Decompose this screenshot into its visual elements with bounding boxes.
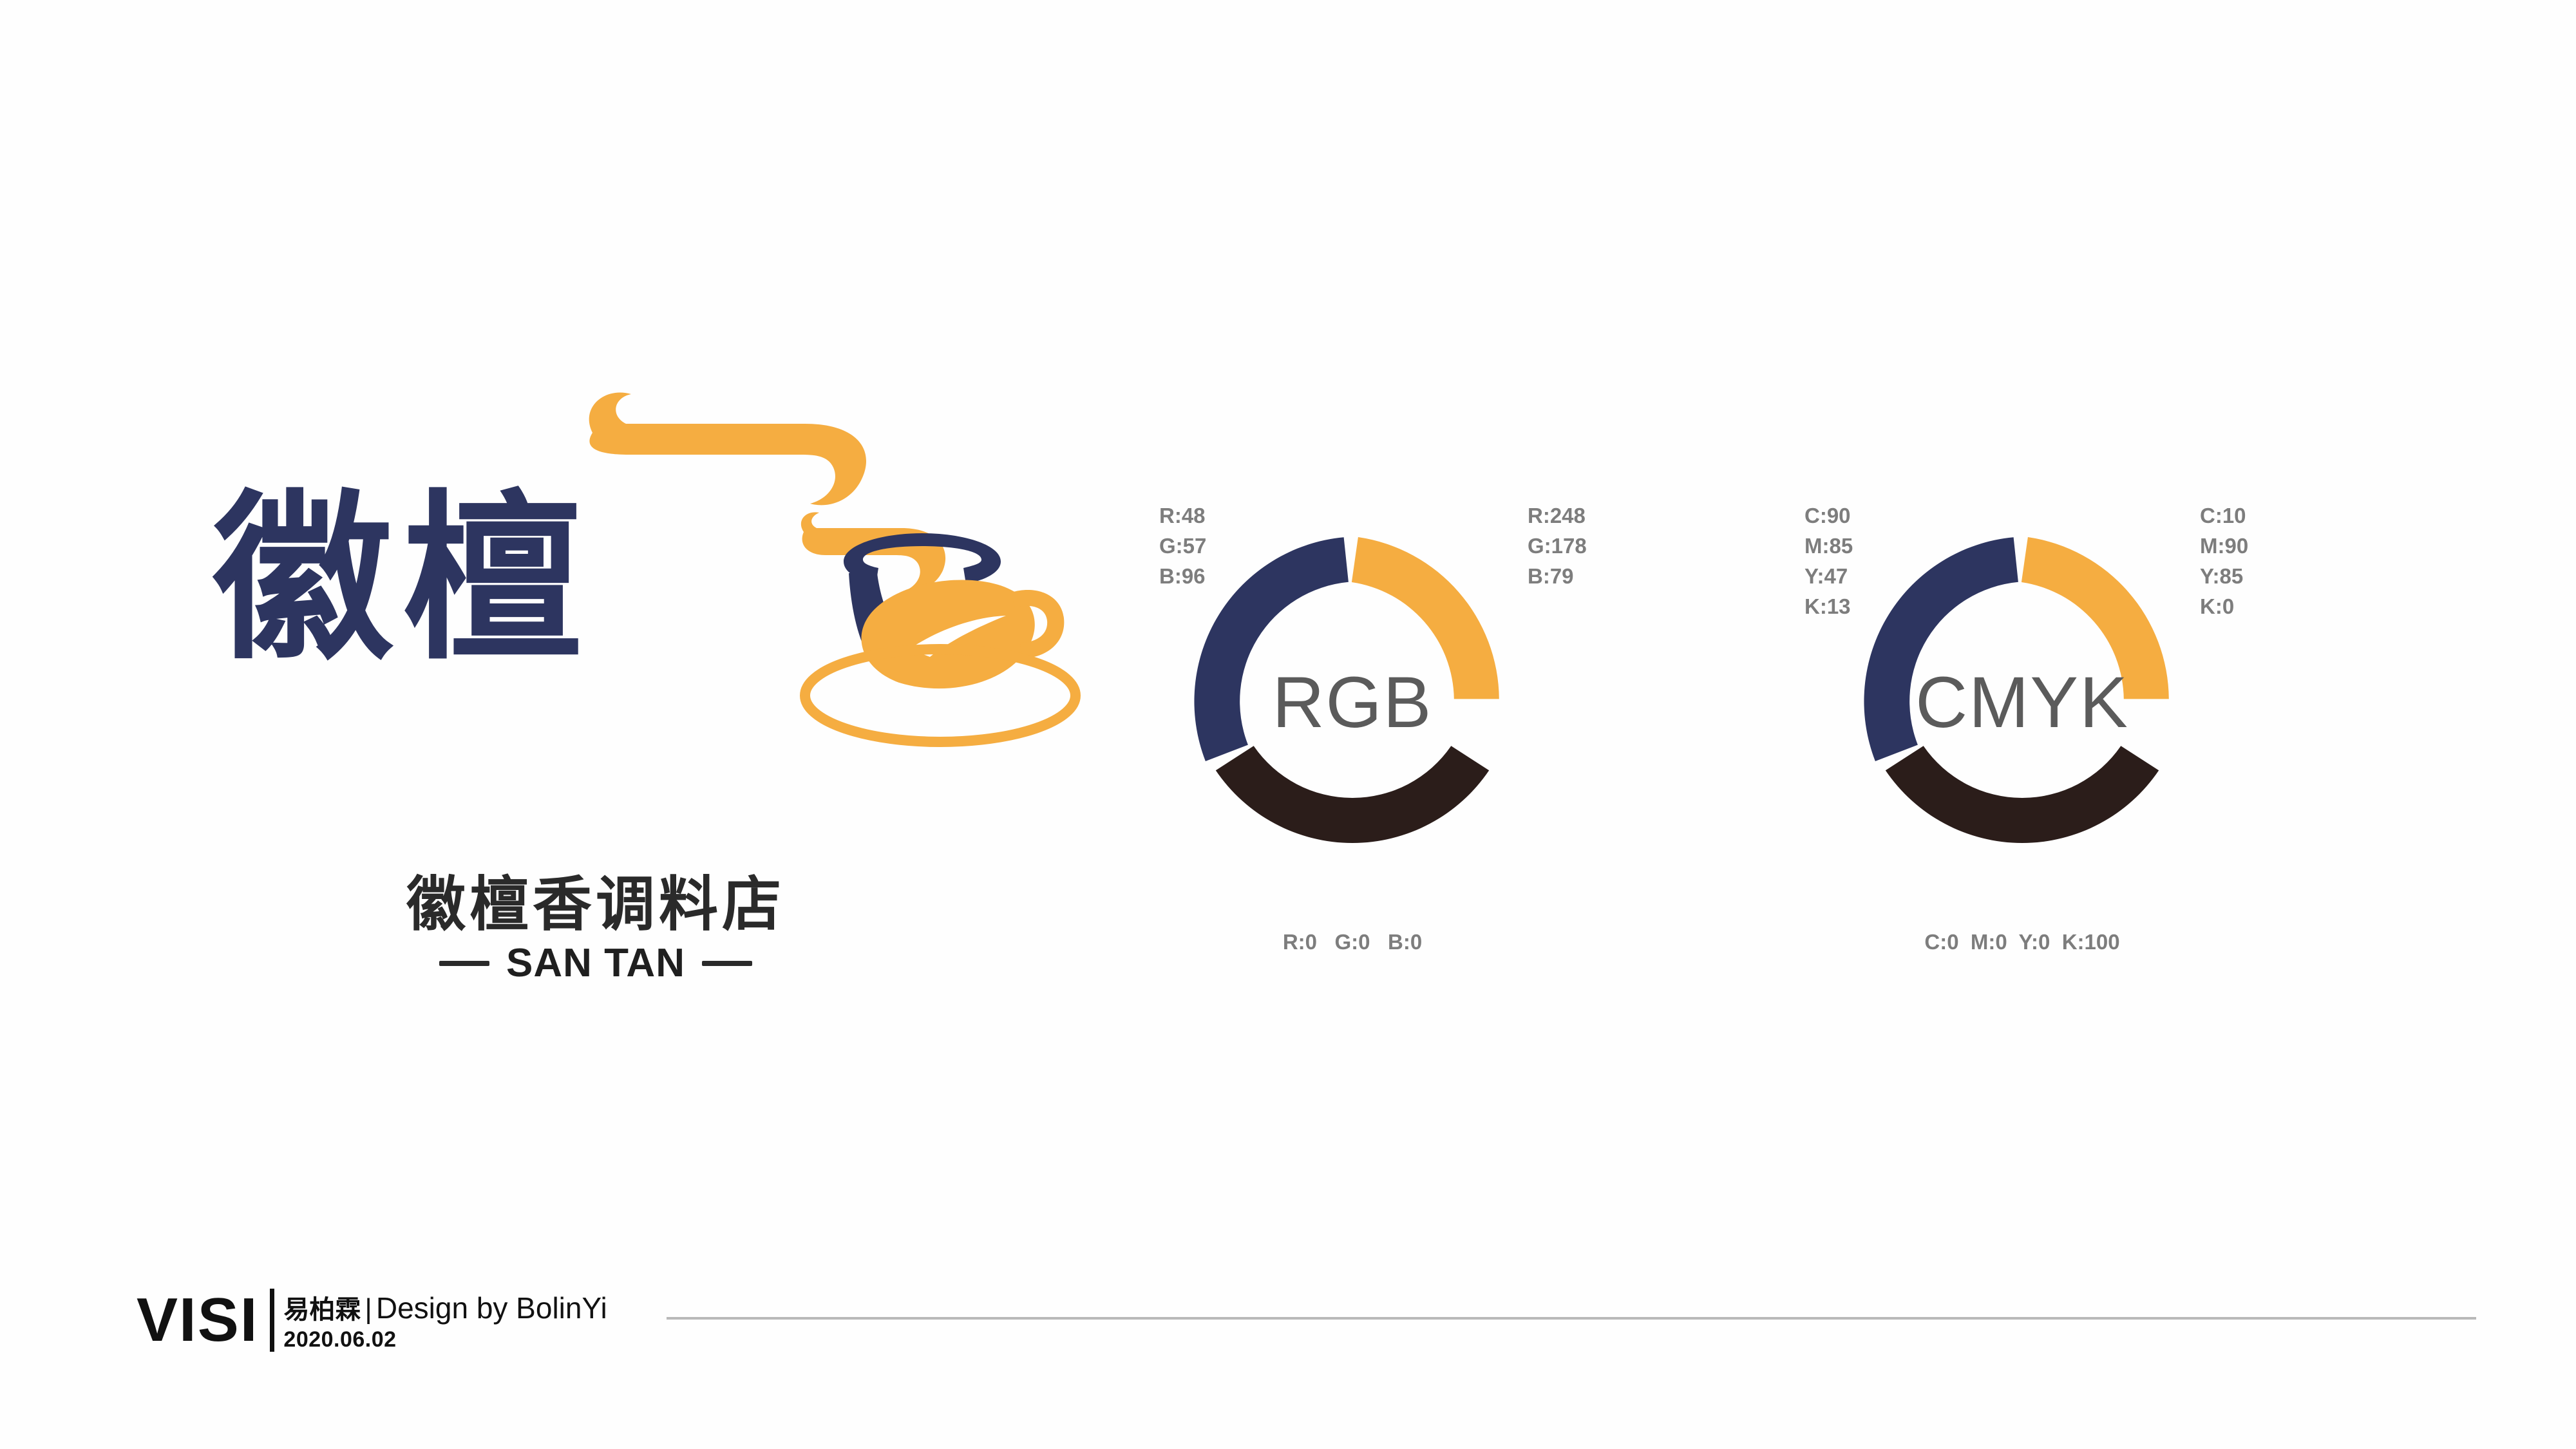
logo-latin-row: SAN TAN: [193, 940, 998, 986]
cmyk-segment-orange: [2022, 537, 2169, 699]
rgb-label-navy: R:48 G:57 B:96: [1159, 501, 1206, 592]
cmyk-segment-navy: [1864, 537, 2018, 761]
cmyk-label-navy: C:90 M:85 Y:47 K:13: [1804, 501, 1853, 621]
logo-wordmark-hanzi: 徽檀: [213, 489, 591, 670]
rgb-label-orange: R:248 G:178 B:79: [1528, 501, 1587, 592]
footer-credit-line: 易柏霖 | Design by BolinYi: [283, 1289, 607, 1326]
slide-canvas: 徽檀 徽檀香调料店 SAN TAN RGB R:48 G:57 B:96 R:2…: [0, 0, 2576, 1449]
footer-credit: VISI 易柏霖 | Design by BolinYi 2020.06.02: [137, 1285, 607, 1356]
rule-right-decoration: [702, 961, 752, 966]
cmyk-segment-black: [1886, 746, 2159, 843]
brand-logo-block: 徽檀 徽檀香调料店 SAN TAN: [193, 361, 1108, 1018]
cmyk-color-donut-chart: CMYK C:90 M:85 Y:47 K:13 C:10 M:90 Y:85 …: [1732, 412, 2312, 992]
footer-design-by: Design by BolinYi: [376, 1291, 607, 1325]
slide-footer: VISI 易柏霖 | Design by BolinYi 2020.06.02: [0, 1278, 2576, 1368]
footer-text-stack: 易柏霖 | Design by BolinYi 2020.06.02: [283, 1285, 607, 1356]
logo-latin-name: SAN TAN: [506, 940, 685, 986]
rgb-segment-black: [1216, 746, 1489, 843]
leaf-cup-icon: [805, 580, 1075, 742]
rgb-label-black: R:0 G:0 B:0: [1063, 927, 1642, 958]
rule-left-decoration: [439, 961, 489, 966]
rgb-segment-orange: [1352, 537, 1499, 699]
logo-tagline-hanzi: 徽檀香调料店: [193, 857, 998, 942]
footer-date: 2020.06.02: [283, 1327, 607, 1352]
cmyk-donut-svg: [1732, 412, 2312, 992]
footer-designer-name-cn: 易柏霖: [283, 1289, 361, 1326]
cmyk-label-black: C:0 M:0 Y:0 K:100: [1732, 927, 2312, 958]
footer-visi-wordmark: VISI: [137, 1288, 258, 1353]
cmyk-label-orange: C:10 M:90 Y:85 K:0: [2200, 501, 2248, 621]
rgb-color-donut-chart: RGB R:48 G:57 B:96 R:248 G:178 B:79 R:0 …: [1063, 412, 1642, 992]
footer-separator: |: [361, 1293, 375, 1325]
footer-divider-line: [667, 1317, 2476, 1320]
footer-vertical-bar: [270, 1289, 274, 1352]
rgb-segment-navy: [1194, 537, 1348, 761]
rgb-donut-svg: [1063, 412, 1642, 992]
steam-swirl-icon: [589, 392, 945, 591]
